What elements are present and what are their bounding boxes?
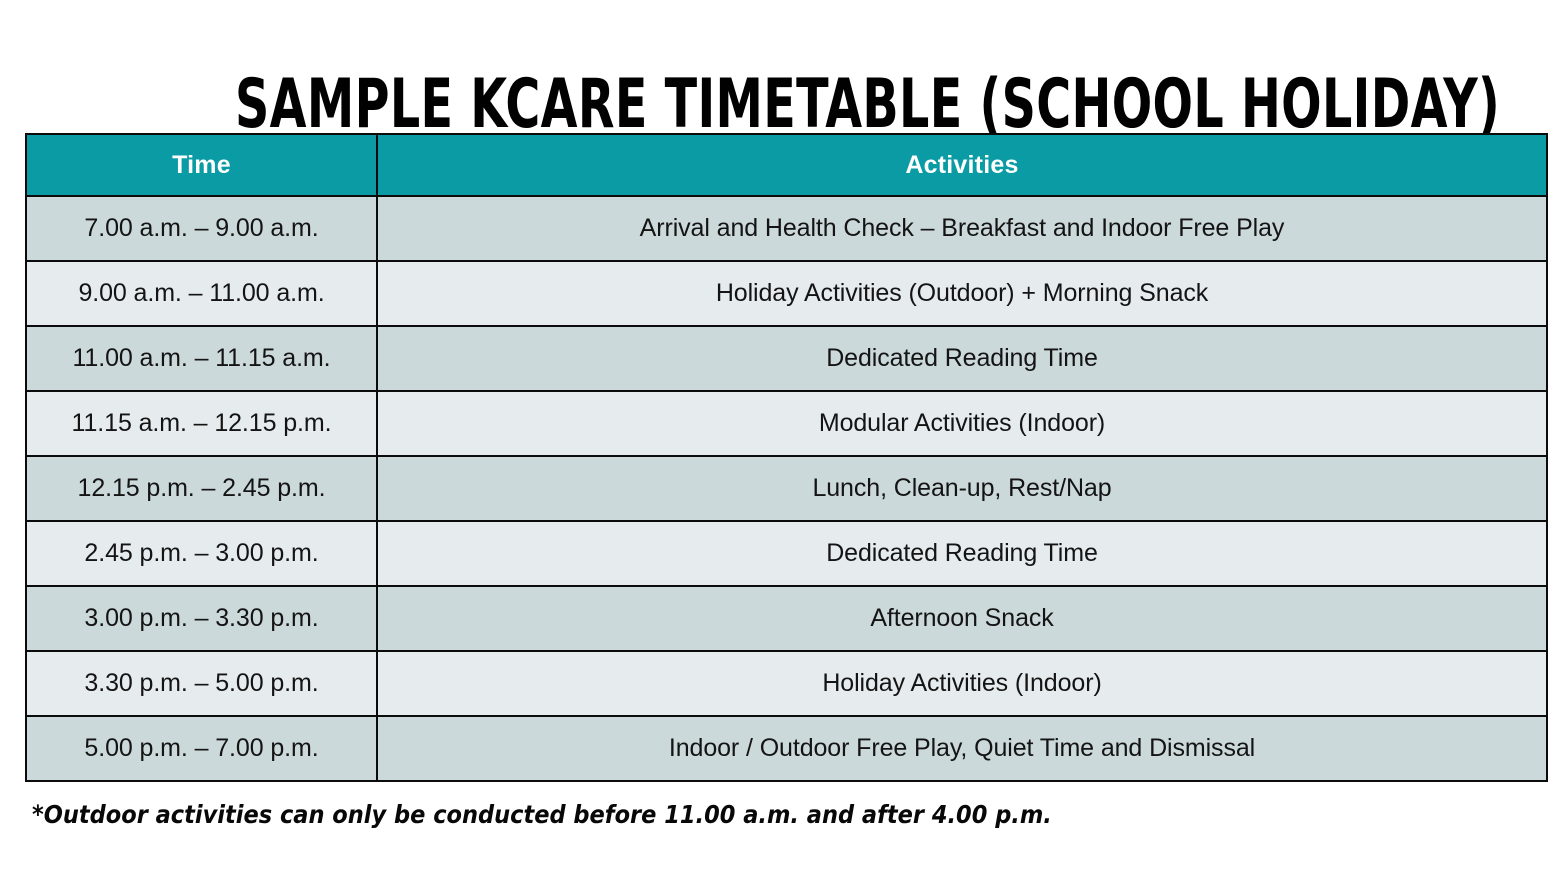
table-row: 9.00 a.m. – 11.00 a.m.Holiday Activities… — [26, 261, 1547, 326]
cell-time: 12.15 p.m. – 2.45 p.m. — [26, 456, 377, 521]
table-row: 2.45 p.m. – 3.00 p.m.Dedicated Reading T… — [26, 521, 1547, 586]
table-row: 7.00 a.m. – 9.00 a.m.Arrival and Health … — [26, 196, 1547, 261]
table-row: 11.15 a.m. – 12.15 p.m.Modular Activitie… — [26, 391, 1547, 456]
cell-activities: Holiday Activities (Outdoor) + Morning S… — [377, 261, 1547, 326]
table-row: 3.30 p.m. – 5.00 p.m.Holiday Activities … — [26, 651, 1547, 716]
timetable: Time Activities 7.00 a.m. – 9.00 a.m.Arr… — [25, 133, 1548, 782]
cell-time: 9.00 a.m. – 11.00 a.m. — [26, 261, 377, 326]
table-body: 7.00 a.m. – 9.00 a.m.Arrival and Health … — [26, 196, 1547, 781]
footnote: *Outdoor activities can only be conducte… — [32, 800, 1052, 829]
table-header-row: Time Activities — [26, 134, 1547, 196]
cell-time: 5.00 p.m. – 7.00 p.m. — [26, 716, 377, 781]
table-row: 11.00 a.m. – 11.15 a.m.Dedicated Reading… — [26, 326, 1547, 391]
cell-time: 2.45 p.m. – 3.00 p.m. — [26, 521, 377, 586]
cell-time: 7.00 a.m. – 9.00 a.m. — [26, 196, 377, 261]
cell-time: 11.15 a.m. – 12.15 p.m. — [26, 391, 377, 456]
cell-activities: Afternoon Snack — [377, 586, 1547, 651]
cell-time: 3.30 p.m. – 5.00 p.m. — [26, 651, 377, 716]
cell-activities: Dedicated Reading Time — [377, 326, 1547, 391]
table-row: 5.00 p.m. – 7.00 p.m.Indoor / Outdoor Fr… — [26, 716, 1547, 781]
cell-time: 11.00 a.m. – 11.15 a.m. — [26, 326, 377, 391]
timetable-container: Time Activities 7.00 a.m. – 9.00 a.m.Arr… — [25, 133, 1546, 782]
cell-activities: Lunch, Clean-up, Rest/Nap — [377, 456, 1547, 521]
column-header-activities: Activities — [377, 134, 1547, 196]
cell-activities: Indoor / Outdoor Free Play, Quiet Time a… — [377, 716, 1547, 781]
column-header-time: Time — [26, 134, 377, 196]
table-header: Time Activities — [26, 134, 1547, 196]
cell-activities: Modular Activities (Indoor) — [377, 391, 1547, 456]
table-row: 12.15 p.m. – 2.45 p.m.Lunch, Clean-up, R… — [26, 456, 1547, 521]
cell-activities: Holiday Activities (Indoor) — [377, 651, 1547, 716]
cell-activities: Dedicated Reading Time — [377, 521, 1547, 586]
table-row: 3.00 p.m. – 3.30 p.m.Afternoon Snack — [26, 586, 1547, 651]
cell-time: 3.00 p.m. – 3.30 p.m. — [26, 586, 377, 651]
cell-activities: Arrival and Health Check – Breakfast and… — [377, 196, 1547, 261]
